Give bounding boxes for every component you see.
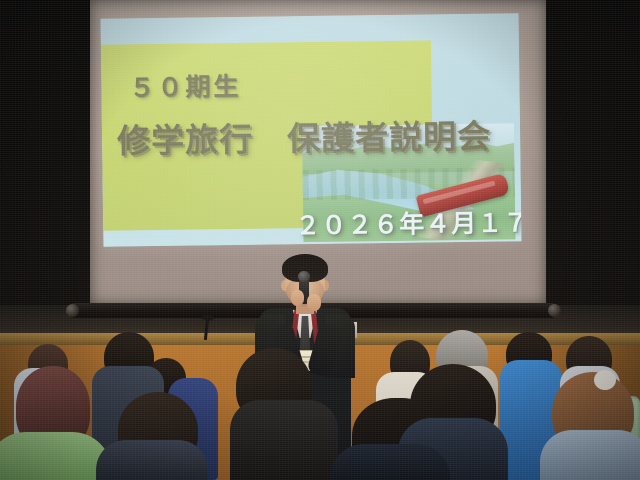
projected-slide: ５０期生 修学旅行 保護者説明会 ２０２６年４月１７日 (101, 13, 522, 246)
person-front-6-body (540, 430, 640, 480)
presenter-hand-right (307, 294, 321, 311)
person-front-6-hair-clip (594, 370, 616, 390)
person-front-5-body (96, 440, 208, 480)
photograph-scene: ５０期生 修学旅行 保護者説明会 ２０２６年４月１７日 (0, 0, 640, 480)
roller-cap-left (66, 304, 79, 317)
person-front-4-body (330, 444, 450, 480)
slide-heading: ５０期生 (129, 67, 241, 104)
presenter-hand-left (291, 290, 304, 306)
slide-title: 修学旅行 保護者説明会 (117, 110, 492, 163)
person-front-2-body (230, 400, 338, 480)
slide-date: ２０２６年４月１７日 (295, 203, 521, 242)
roller-cap-right (548, 304, 561, 317)
